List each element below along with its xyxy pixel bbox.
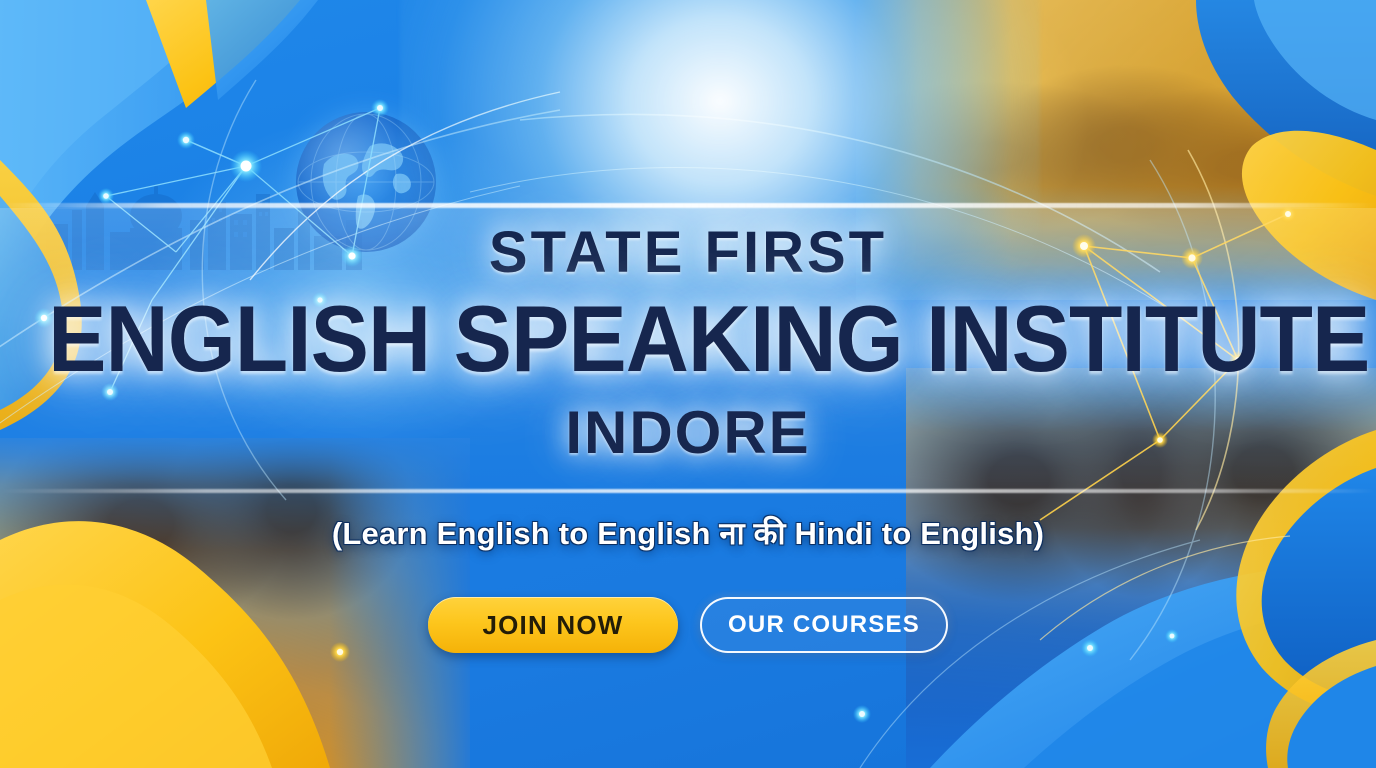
banner-kicker: STATE FIRST bbox=[0, 219, 1376, 286]
our-courses-button[interactable]: OUR COURSES bbox=[700, 597, 948, 653]
banner-city: INDORE bbox=[0, 398, 1376, 467]
banner-subtitle: (Learn English to English ना की Hindi to… bbox=[0, 512, 1376, 554]
hero-banner: STATE FIRST ENGLISH SPEAKING INSTITUTE I… bbox=[0, 0, 1376, 768]
join-now-button[interactable]: JOIN NOW bbox=[428, 597, 678, 653]
banner-content: STATE FIRST ENGLISH SPEAKING INSTITUTE I… bbox=[0, 0, 1376, 768]
cta-button-row: JOIN NOW OUR COURSES bbox=[0, 597, 1376, 653]
banner-headline: ENGLISH SPEAKING INSTITUTE bbox=[48, 292, 1328, 386]
